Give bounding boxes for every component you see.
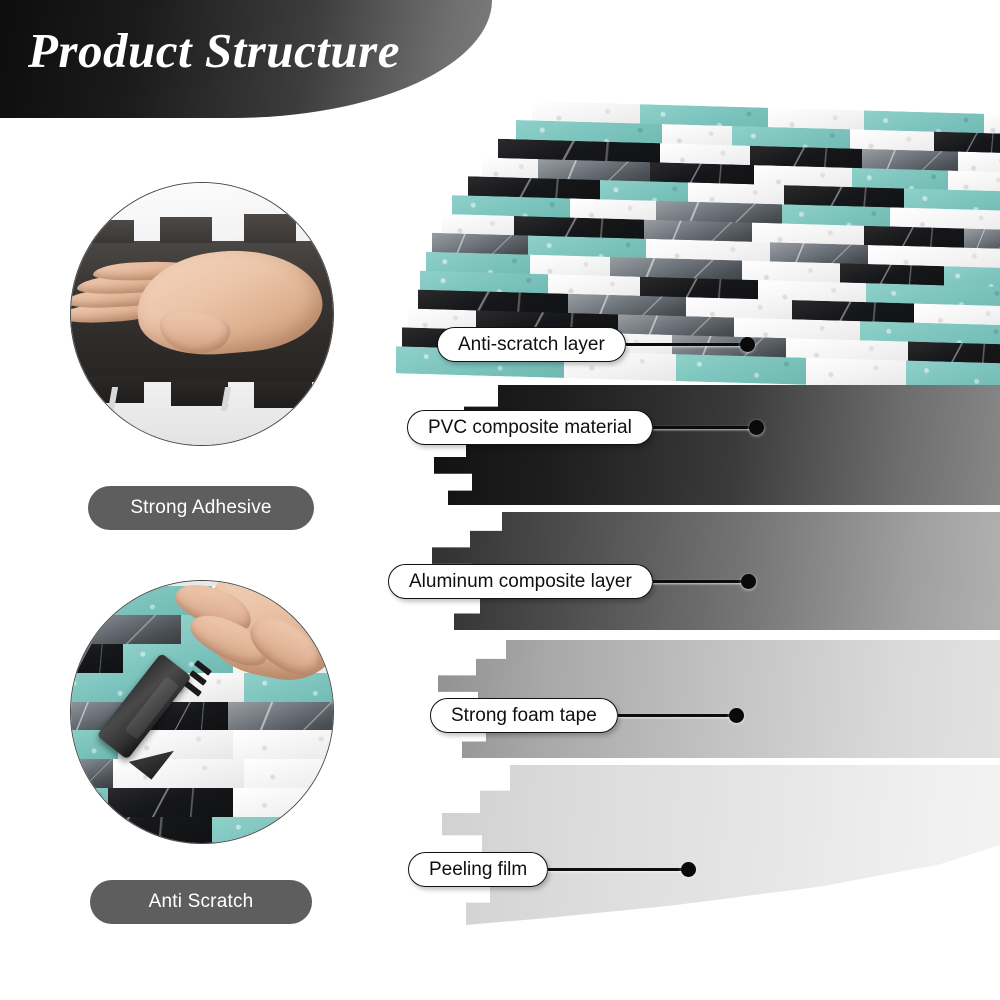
- callout-pill[interactable]: Strong foam tape: [430, 698, 618, 733]
- callout-pill[interactable]: Anti-scratch layer: [437, 327, 626, 362]
- callout-anti-scratch-layer[interactable]: Anti-scratch layer: [437, 327, 755, 362]
- hand-pressing-tile-photo: [70, 182, 334, 446]
- callout-pill[interactable]: Peeling film: [408, 852, 548, 887]
- layer-stack-illustration: Anti-scratch layer PVC composite materia…: [420, 100, 1000, 960]
- feature-badge-anti-scratch[interactable]: Anti Scratch: [90, 880, 312, 924]
- callout-dot: [681, 862, 696, 877]
- callout-pill[interactable]: PVC composite material: [407, 410, 653, 445]
- callout-dot: [741, 574, 756, 589]
- knife-scratching-tile-photo: [70, 580, 334, 844]
- callout-label: Peeling film: [429, 859, 527, 881]
- callout-label: PVC composite material: [428, 417, 632, 439]
- callout-aluminum-composite-layer[interactable]: Aluminum composite layer: [388, 564, 756, 599]
- callout-strong-foam-tape[interactable]: Strong foam tape: [430, 698, 744, 733]
- peeling-film-layer: [420, 765, 1000, 925]
- callout-label: Anti-scratch layer: [458, 334, 605, 356]
- callout-label: Aluminum composite layer: [409, 571, 632, 593]
- pvc-composite-layer: [420, 385, 1000, 505]
- page-title: Product Structure: [28, 22, 400, 79]
- feature-badge-label: Anti Scratch: [149, 891, 254, 913]
- feature-badge-strong-adhesive[interactable]: Strong Adhesive: [88, 486, 314, 530]
- hand: [171, 580, 334, 722]
- callout-connector-line: [618, 714, 731, 716]
- callout-pill[interactable]: Aluminum composite layer: [388, 564, 653, 599]
- callout-peeling-film[interactable]: Peeling film: [408, 852, 696, 887]
- infographic-canvas: Product Structure: [0, 0, 1000, 1000]
- callout-dot: [749, 420, 764, 435]
- callout-pvc-composite-material[interactable]: PVC composite material: [407, 410, 764, 445]
- header-banner: Product Structure: [0, 0, 492, 118]
- callout-dot: [729, 708, 744, 723]
- callout-connector-line: [653, 426, 751, 428]
- callout-connector-line: [653, 580, 743, 582]
- callout-dot: [740, 337, 755, 352]
- callout-connector-line: [626, 343, 742, 345]
- callout-connector-line: [548, 868, 683, 870]
- feature-badge-label: Strong Adhesive: [130, 497, 271, 519]
- hand: [70, 246, 333, 377]
- callout-label: Strong foam tape: [451, 705, 597, 727]
